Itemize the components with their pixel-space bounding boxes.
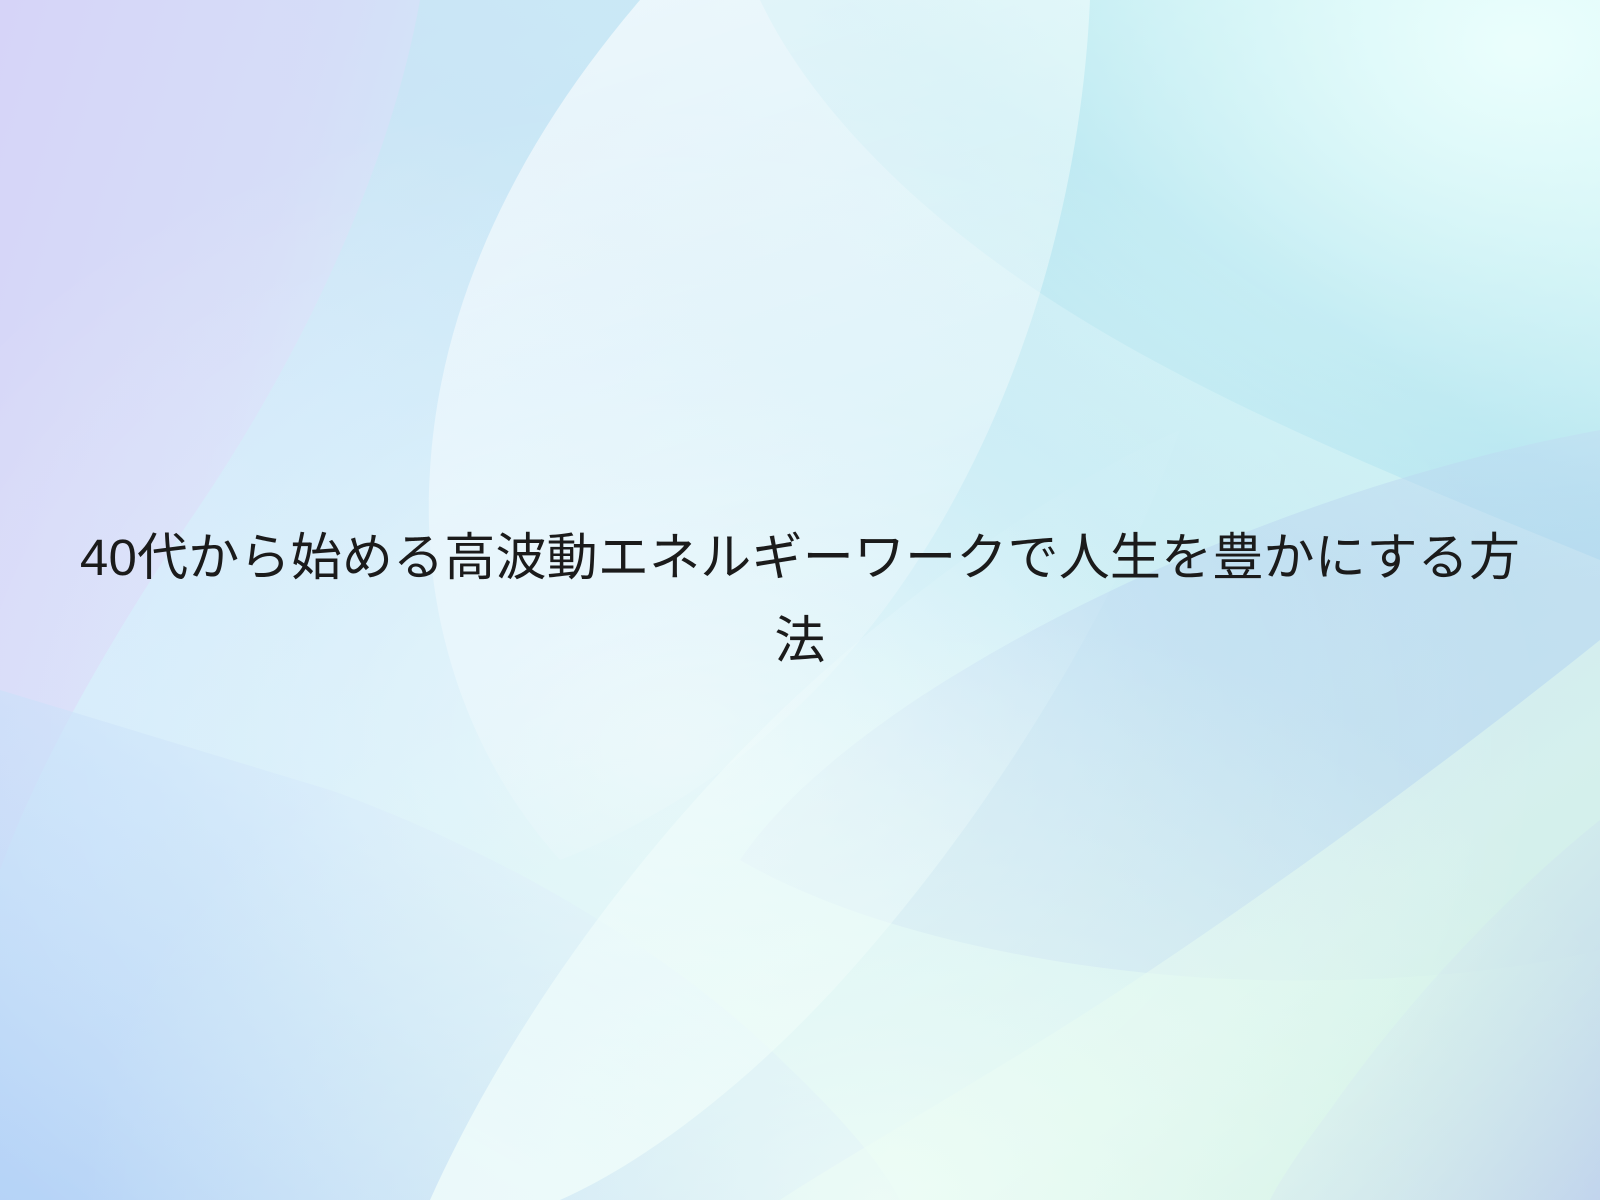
glow-bottom-center	[0, 0, 1600, 1200]
title-card: 40代から始める高波動エネルギーワークで人生を豊かにする方法	[0, 0, 1600, 1200]
abstract-gradient-background	[0, 0, 1600, 1200]
